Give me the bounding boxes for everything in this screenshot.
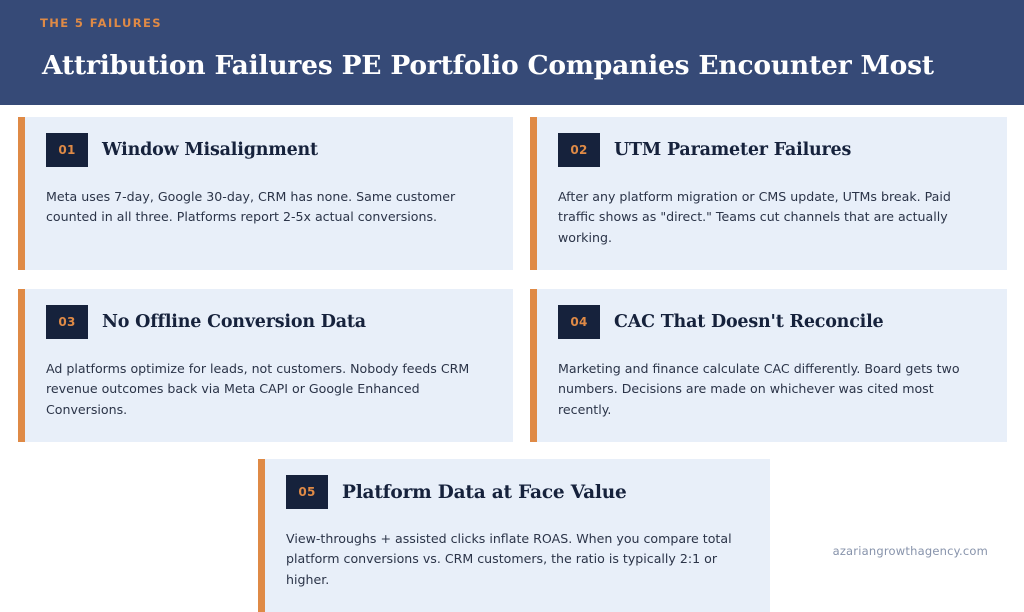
eyebrow-label: THE 5 FAILURES — [40, 16, 162, 30]
card-header: 02 UTM Parameter Failures — [558, 133, 989, 167]
card-content: 02 UTM Parameter Failures After any plat… — [537, 117, 1007, 270]
card-title: Window Misalignment — [102, 140, 318, 160]
card-header: 01 Window Misalignment — [46, 133, 495, 167]
card-content: 05 Platform Data at Face Value View-thro… — [265, 459, 770, 612]
page-title: Attribution Failures PE Portfolio Compan… — [42, 50, 934, 81]
card-number-badge: 04 — [558, 305, 600, 339]
card-body-text: Meta uses 7-day, Google 30-day, CRM has … — [46, 187, 495, 228]
card-body-text: After any platform migration or CMS upda… — [558, 187, 989, 248]
accent-bar — [258, 459, 265, 612]
card-body-text: Ad platforms optimize for leads, not cus… — [46, 359, 495, 420]
card-title: Platform Data at Face Value — [342, 482, 627, 503]
card-header: 04 CAC That Doesn't Reconcile — [558, 305, 989, 339]
card-number-badge: 02 — [558, 133, 600, 167]
card-number-badge: 03 — [46, 305, 88, 339]
site-watermark: azariangrowthagency.com — [833, 544, 988, 558]
card-title: UTM Parameter Failures — [614, 140, 851, 160]
card-title: No Offline Conversion Data — [102, 312, 366, 332]
card-body-text: View-throughs + assisted clicks inflate … — [286, 529, 752, 590]
card-body-text: Marketing and finance calculate CAC diff… — [558, 359, 989, 420]
card-content: 03 No Offline Conversion Data Ad platfor… — [25, 289, 513, 442]
accent-bar — [18, 289, 25, 442]
header-band: THE 5 FAILURES Attribution Failures PE P… — [0, 0, 1024, 105]
card-header: 03 No Offline Conversion Data — [46, 305, 495, 339]
failure-card-03: 03 No Offline Conversion Data Ad platfor… — [18, 289, 513, 442]
card-number-badge: 05 — [286, 475, 328, 509]
card-content: 01 Window Misalignment Meta uses 7-day, … — [25, 117, 513, 270]
accent-bar — [18, 117, 25, 270]
card-content: 04 CAC That Doesn't Reconcile Marketing … — [537, 289, 1007, 442]
accent-bar — [530, 117, 537, 270]
failure-card-01: 01 Window Misalignment Meta uses 7-day, … — [18, 117, 513, 270]
failure-card-05: 05 Platform Data at Face Value View-thro… — [258, 459, 770, 612]
accent-bar — [530, 289, 537, 442]
failure-card-04: 04 CAC That Doesn't Reconcile Marketing … — [530, 289, 1007, 442]
failure-card-02: 02 UTM Parameter Failures After any plat… — [530, 117, 1007, 270]
card-header: 05 Platform Data at Face Value — [286, 475, 752, 509]
card-title: CAC That Doesn't Reconcile — [614, 312, 884, 332]
card-number-badge: 01 — [46, 133, 88, 167]
